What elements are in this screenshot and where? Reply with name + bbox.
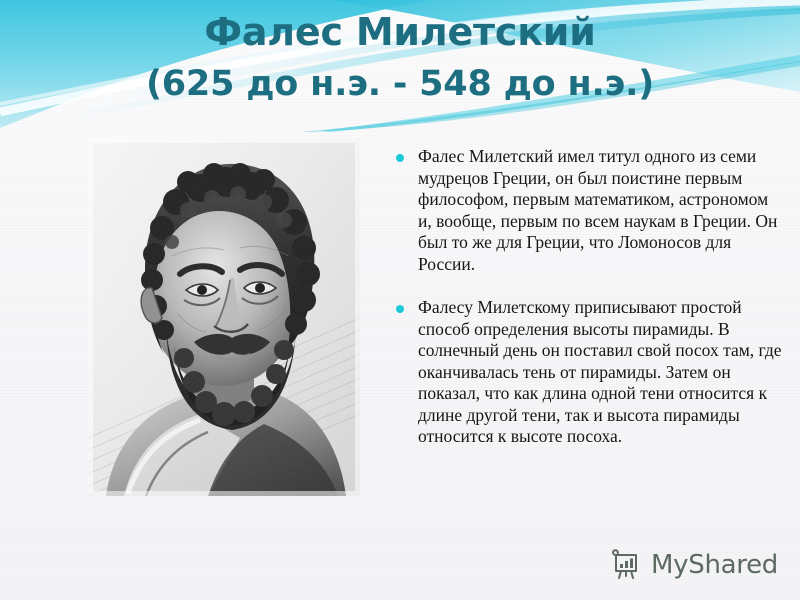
- list-item: Фалесу Милетскому приписывают простой сп…: [386, 297, 784, 448]
- portrait-engraving-svg: [88, 138, 360, 496]
- bullet-text: Фалес Милетский имел титул одного из сем…: [418, 146, 784, 275]
- myshared-logo-text: MyShared: [651, 550, 778, 580]
- bullet-dot-icon: [396, 154, 404, 162]
- flipchart-bar-chart-icon: [609, 548, 643, 582]
- slide-canvas: Фалес Милетский (625 до н.э. - 548 до н.…: [0, 0, 800, 600]
- bullet-dot-icon: [396, 305, 404, 313]
- list-item: Фалес Милетский имел титул одного из сем…: [386, 146, 784, 275]
- portrait-thales: [88, 138, 360, 496]
- title-line-dates: (625 до н.э. - 548 до н.э.): [0, 58, 800, 110]
- content-bullets: Фалес Милетский имел титул одного из сем…: [386, 146, 784, 470]
- slide-title: Фалес Милетский (625 до н.э. - 548 до н.…: [0, 6, 800, 110]
- bullet-text: Фалесу Милетскому приписывают простой сп…: [418, 297, 784, 448]
- myshared-logo[interactable]: MyShared: [609, 548, 778, 582]
- title-line-name: Фалес Милетский: [0, 6, 800, 58]
